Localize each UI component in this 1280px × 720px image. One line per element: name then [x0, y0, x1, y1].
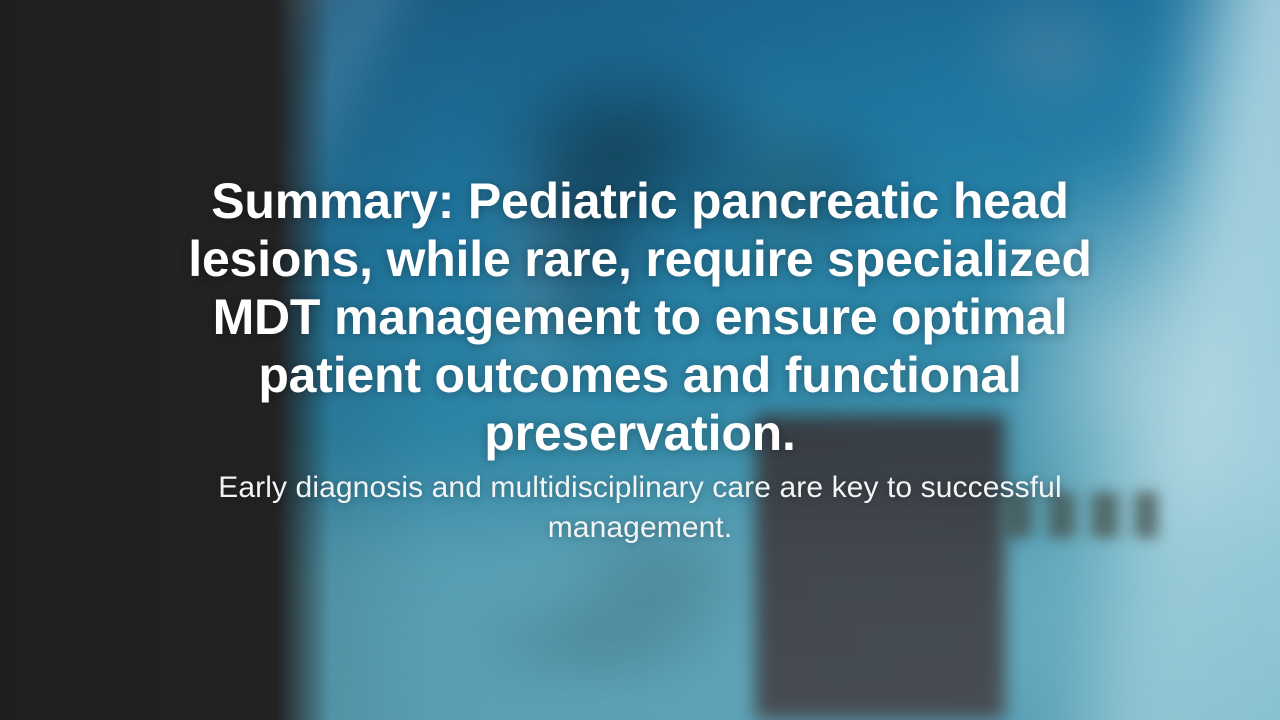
slide-subheadline: Early diagnosis and multidisciplinary ca…: [140, 468, 1140, 548]
slide-headline: Summary: Pediatric pancreatic head lesio…: [140, 172, 1140, 462]
summary-slide: Summary: Pediatric pancreatic head lesio…: [0, 0, 1280, 720]
slide-content: Summary: Pediatric pancreatic head lesio…: [0, 0, 1280, 720]
